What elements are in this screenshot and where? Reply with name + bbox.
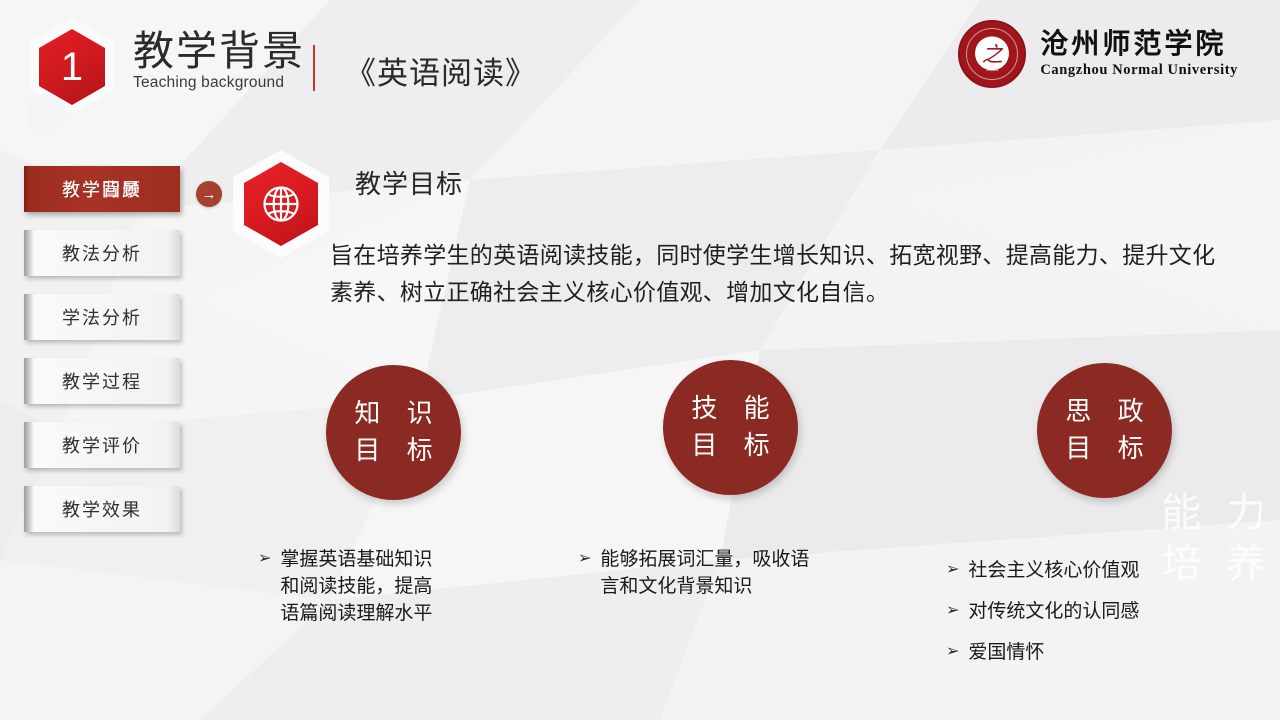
seal-year: 1958 [960, 67, 1024, 73]
bullet-arrow-icon: ➢ [946, 557, 959, 582]
goal-bullet-list: ➢ 能够拓展词汇量，吸收语 言和文化背景知识 [578, 546, 908, 600]
sidebar-item-label: 教学评价 [62, 432, 142, 458]
list-item: ➢ 对传统文化的认同感 [946, 598, 1236, 625]
sidebar-item-label: 教学效果 [62, 496, 142, 522]
list-item: ➢ 社会主义核心价值观 [946, 557, 1236, 584]
bullet-arrow-icon: ➢ [578, 546, 591, 571]
bullet-arrow-icon: ➢ [946, 598, 959, 623]
header-title-block: 教学背景 Teaching background [133, 30, 305, 92]
sidebar-item-label: 学法分析 [62, 304, 142, 330]
goal-circle-line-2: 目 标 [682, 428, 778, 465]
sidebar-item-teaching-method[interactable]: 教法分析 [24, 230, 180, 276]
list-item-text: 社会主义核心价值观 [968, 557, 1139, 584]
sidebar-item-teaching-background[interactable]: 教学背景 教学回顾 [24, 166, 180, 212]
goal-circle-line-1: 技 能 [682, 391, 778, 428]
goal-circle-line-1: 思 政 [1056, 394, 1152, 431]
goal-circle: 技 能 目 标 [663, 360, 798, 495]
list-item-text: 爱国情怀 [968, 639, 1044, 666]
goal-circle-line-2: 目 标 [345, 433, 441, 470]
university-name-cn: 沧州师范学院 [1040, 29, 1238, 60]
goal-bullet-list: ➢ 社会主义核心价值观 ➢ 对传统文化的认同感 ➢ 爱国情怀 [946, 557, 1236, 666]
step-number: 1 [39, 29, 105, 105]
list-item: ➢ 爱国情怀 [946, 639, 1236, 666]
list-item: ➢ 能够拓展词汇量，吸收语 言和文化背景知识 [578, 546, 908, 600]
university-name-block: 沧州师范学院 Cangzhou Normal University [1040, 29, 1238, 79]
sidebar-item-teaching-evaluation[interactable]: 教学评价 [24, 422, 180, 468]
seal-emblem: 之 [975, 36, 1009, 70]
sidebar-item-label: 教法分析 [62, 240, 142, 266]
list-item-text: 对传统文化的认同感 [968, 598, 1139, 625]
list-item: ➢ 掌握英语基础知识 和阅读技能，提高 语篇阅读理解水平 [258, 546, 528, 627]
list-item-text: 掌握英语基础知识 和阅读技能，提高 语篇阅读理解水平 [280, 546, 432, 627]
university-seal-icon: 之 1958 [958, 20, 1026, 88]
sidebar-item-learning-method[interactable]: 学法分析 [24, 294, 180, 340]
university-logo: 之 1958 沧州师范学院 Cangzhou Normal University [958, 20, 1238, 88]
bullet-arrow-icon: ➢ [946, 639, 959, 664]
page-title: 教学背景 [133, 30, 305, 73]
goal-circle: 知 识 目 标 [326, 365, 461, 500]
sidebar-nav: 教学背景 教学回顾 教法分析 学法分析 教学过程 教学评价 教学效果 [24, 166, 180, 550]
sidebar-item-overlay-label: 教学回顾 [24, 166, 180, 212]
arrow-right-icon: → [196, 181, 222, 207]
arrow-glyph: → [202, 186, 217, 203]
page-subtitle: Teaching background [133, 74, 305, 92]
sidebar-item-teaching-effect[interactable]: 教学效果 [24, 486, 180, 532]
sidebar-item-teaching-process[interactable]: 教学过程 [24, 358, 180, 404]
section-icon-badge [233, 150, 329, 258]
goal-circle-line-1: 知 识 [345, 396, 441, 433]
goal-bullet-list: ➢ 掌握英语基础知识 和阅读技能，提高 语篇阅读理解水平 [258, 546, 528, 627]
course-name: 《英语阅读》 [345, 48, 537, 93]
goal-circle: 思 政 目 标 [1037, 363, 1172, 498]
globe-icon [259, 182, 303, 226]
header-divider [313, 45, 315, 91]
section-title: 教学目标 [355, 164, 463, 201]
sidebar-item-label: 教学过程 [62, 368, 142, 394]
university-name-en: Cangzhou Normal University [1040, 62, 1238, 79]
step-badge: 1 [22, 14, 130, 134]
section-body-text: 旨在培养学生的英语阅读技能，同时使学生增长知识、拓宽视野、提高能力、提升文化素养… [330, 238, 1235, 313]
goal-circle-line-2: 目 标 [1056, 431, 1152, 468]
slide-root: 1 教学背景 Teaching background 《英语阅读》 之 1958… [0, 0, 1280, 720]
bullet-arrow-icon: ➢ [258, 546, 271, 571]
list-item-text: 能够拓展词汇量，吸收语 言和文化背景知识 [600, 546, 809, 600]
